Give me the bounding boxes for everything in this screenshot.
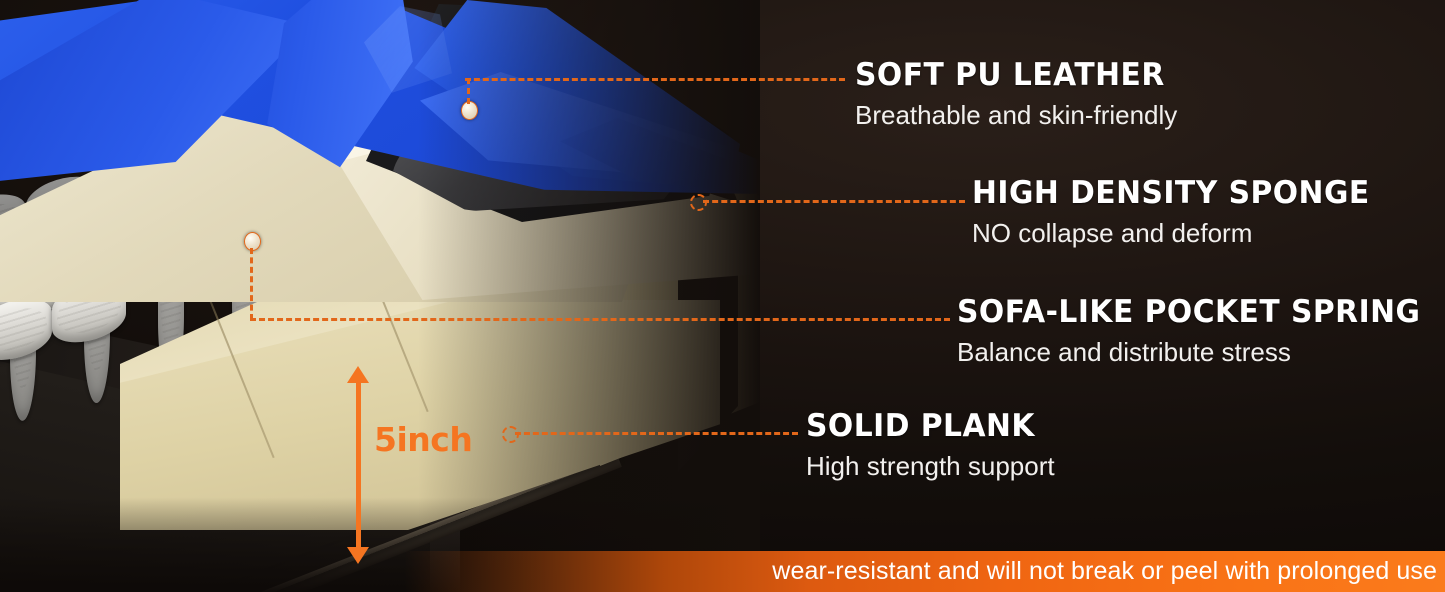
callout-soft-pu-leather: SOFT PU LEATHER Breathable and skin-frie…	[855, 60, 1178, 128]
leader-line-high-density-sponge	[703, 200, 965, 203]
callout-subtitle: High strength support	[806, 453, 1055, 479]
callout-subtitle: Balance and distribute stress	[957, 339, 1440, 365]
banner-text: wear-resistant and will not break or pee…	[772, 557, 1445, 586]
thickness-label: 5inch	[374, 420, 472, 459]
leader-line-vertical-soft-pu-leather	[467, 78, 470, 104]
callout-title: SOFA-LIKE POCKET SPRING	[957, 297, 1420, 328]
product-infographic: 5inch SOFT PU LEATHER Breathable and ski…	[0, 0, 1445, 592]
thickness-arrow-icon	[345, 366, 371, 564]
mattress-cutaway-image	[0, 0, 760, 592]
leader-line-vertical-pocket-spring	[250, 248, 253, 320]
callout-title: HIGH DENSITY SPONGE	[972, 178, 1370, 209]
callout-title: SOLID PLANK	[806, 411, 1045, 442]
bottom-banner: wear-resistant and will not break or pee…	[0, 551, 1445, 592]
callout-subtitle: NO collapse and deform	[972, 220, 1386, 246]
arrow-shaft	[356, 378, 361, 552]
callout-subtitle: Breathable and skin-friendly	[855, 102, 1178, 128]
callout-solid-plank: SOLID PLANK High strength support	[806, 411, 1055, 479]
callout-title: SOFT PU LEATHER	[855, 60, 1165, 91]
callout-sofa-like-pocket-spring: SOFA-LIKE POCKET SPRING Balance and dist…	[957, 297, 1440, 365]
leader-line-soft-pu-leather	[465, 78, 845, 81]
leader-line-pocket-spring	[250, 318, 950, 321]
leader-line-solid-plank	[515, 432, 798, 435]
callout-high-density-sponge: HIGH DENSITY SPONGE NO collapse and defo…	[972, 178, 1386, 246]
